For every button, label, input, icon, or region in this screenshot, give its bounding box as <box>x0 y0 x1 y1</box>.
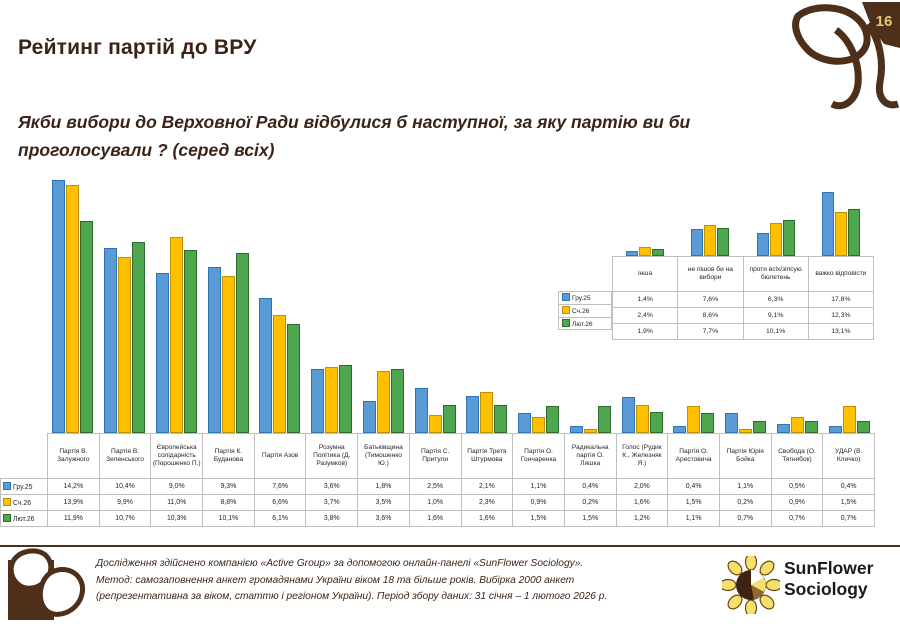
inset-bar-group <box>612 190 678 256</box>
column-header: УДАР (В. Кличко) <box>823 434 875 479</box>
bar-2 <box>546 406 559 433</box>
table-cell-value: 1,0% <box>409 495 461 511</box>
table-cell-value: 3,6% <box>358 511 410 527</box>
column-header: Партія О. Гончаренка <box>513 434 565 479</box>
column-header: Партія О. Арестовича <box>668 434 720 479</box>
inset-table-cell-value: 9,1% <box>743 308 808 324</box>
inset-table-cell-value: 17,8% <box>808 292 873 308</box>
bar-2 <box>701 413 714 433</box>
table-cell-value: 10,7% <box>99 511 151 527</box>
inset-table-cell-value: 2,4% <box>613 308 678 324</box>
inset-bar-2 <box>783 220 795 256</box>
table-cell-value: 1,6% <box>461 511 513 527</box>
bar-2 <box>184 250 197 434</box>
legend-swatch-icon <box>3 482 11 490</box>
inset-table-cell-value: 8,6% <box>678 308 743 324</box>
bar-2 <box>805 421 818 433</box>
bar-1 <box>687 406 700 433</box>
inset-column-header: важко відповісти <box>808 257 873 292</box>
bar-0 <box>725 413 738 433</box>
sunflower-sociology-logo: SunFlower Sociology <box>722 556 892 618</box>
methodology-line-2: Метод: самозаповнення анкет громадянами … <box>96 573 706 590</box>
bar-group <box>306 180 358 433</box>
inset-table-cell-value: 6,3% <box>743 292 808 308</box>
table-cell-value: 3,8% <box>306 511 358 527</box>
inset-bar-0 <box>822 192 834 256</box>
footer-divider <box>0 545 900 547</box>
column-header: Партія Юрія Бойка <box>719 434 771 479</box>
bar-0 <box>52 180 65 433</box>
table-cell-value: 11,0% <box>151 495 203 511</box>
bar-group <box>409 180 461 433</box>
bar-1 <box>636 405 649 434</box>
table-cell-value: 13,9% <box>48 495 100 511</box>
inset-legend-swatch-icon <box>562 319 570 327</box>
table-cell-value: 9,9% <box>99 495 151 511</box>
inset-data-table: іншане пішов би на виборипроти всіх/зіпс… <box>612 256 874 340</box>
table-cell-value: 1,2% <box>616 511 668 527</box>
table-cell-value: 1,5% <box>668 495 720 511</box>
table-cell-value: 9,3% <box>203 479 255 495</box>
table-cell-value: 1,6% <box>616 495 668 511</box>
inset-bar-0 <box>691 229 703 256</box>
table-cell-value: 6,1% <box>254 511 306 527</box>
table-row: Сч.2613,9%9,9%11,0%8,8%6,6%3,7%3,5%1,0%2… <box>1 495 875 511</box>
inset-table-row: 1,9%7,7%10,1%13,1% <box>613 324 874 340</box>
table-cell-value: 0,9% <box>513 495 565 511</box>
inset-bar-group <box>809 190 875 256</box>
table-row: Лют.2611,9%10,7%10,3%10,1%6,1%3,8%3,6%1,… <box>1 511 875 527</box>
bar-0 <box>622 397 635 433</box>
table-cell-value: 1,6% <box>409 511 461 527</box>
main-table-header-row: Партія В. ЗалужногоПартія В. Зеленського… <box>1 434 875 479</box>
inset-table-row: 1,4%7,6%6,3%17,8% <box>613 292 874 308</box>
bar-group <box>47 180 99 433</box>
inset-bar-0 <box>757 233 769 256</box>
inset-bar-chart <box>612 190 874 256</box>
bar-0 <box>466 396 479 433</box>
logo-line-1: SunFlower <box>784 558 873 579</box>
inset-bar-2 <box>652 249 664 256</box>
legend-swatch-icon <box>3 514 11 522</box>
inset-legend-item: Лют.26 <box>558 317 612 330</box>
survey-question: Якби вибори до Верховної Ради відбулися … <box>18 108 818 164</box>
column-header: Партія В. Залужного <box>48 434 100 479</box>
column-header: Європейська солідарність (Порошенко П.) <box>151 434 203 479</box>
table-cell-value: 10,1% <box>203 511 255 527</box>
main-data-table: Партія В. ЗалужногоПартія В. Зеленського… <box>0 433 875 527</box>
column-header: Свобода (О. Тягнибок) <box>771 434 823 479</box>
bar-group <box>461 180 513 433</box>
table-cell-value: 10,3% <box>151 511 203 527</box>
table-cell-value: 9,0% <box>151 479 203 495</box>
bar-2 <box>494 405 507 434</box>
bar-1 <box>532 417 545 433</box>
bar-1 <box>480 392 493 433</box>
inset-table-cell-value: 7,7% <box>678 324 743 340</box>
legend-row-header: Сч.26 <box>1 495 48 511</box>
inset-column-header: не пішов би на вибори <box>678 257 743 292</box>
methodology-line-3: (репрезентативна за віком, статтю і регі… <box>96 589 706 606</box>
inset-bar-1 <box>704 225 716 256</box>
bar-group <box>202 180 254 433</box>
column-header: Батьківщина (Тимошенко Ю.) <box>358 434 410 479</box>
main-table-body: Гру.2514,2%10,4%9,0%9,3%7,6%3,6%1,8%2,5%… <box>1 479 875 527</box>
table-cell-value: 0,4% <box>564 479 616 495</box>
inset-table-cell-value: 1,4% <box>613 292 678 308</box>
column-header: Партія К. Буданова <box>203 434 255 479</box>
bar-0 <box>208 267 221 433</box>
table-cell-value: 1,5% <box>513 511 565 527</box>
methodology-line-1: Дослідження здійснено компанією «Active … <box>96 556 706 573</box>
column-header: Партія Третя Штурмова <box>461 434 513 479</box>
bar-2 <box>339 365 352 433</box>
bar-0 <box>156 273 169 433</box>
column-header: Радикальна партія О. Ляшка <box>564 434 616 479</box>
table-cell-value: 14,2% <box>48 479 100 495</box>
bar-0 <box>363 401 376 433</box>
inset-legend-item: Сч.26 <box>558 304 612 317</box>
bar-2 <box>80 221 93 433</box>
table-cell-value: 3,6% <box>306 479 358 495</box>
bar-2 <box>287 324 300 433</box>
bar-2 <box>132 242 145 433</box>
sunflower-icon <box>722 556 780 614</box>
column-header: Партія Азов <box>254 434 306 479</box>
bar-2 <box>443 405 456 434</box>
inset-table-cell-value: 13,1% <box>808 324 873 340</box>
inset-column-header: проти всіх/зіпсую бюлетень <box>743 257 808 292</box>
inset-bar-1 <box>770 223 782 256</box>
page-title: Рейтинг партій до ВРУ <box>18 36 256 60</box>
inset-bar-2 <box>848 209 860 256</box>
table-cell-value: 10,4% <box>99 479 151 495</box>
inset-bar-2 <box>717 228 729 256</box>
table-cell-value: 0,5% <box>771 479 823 495</box>
inset-table-cell-value: 7,6% <box>678 292 743 308</box>
bar-group <box>99 180 151 433</box>
inset-table-cell-value: 12,3% <box>808 308 873 324</box>
bar-1 <box>66 185 79 433</box>
bar-1 <box>222 276 235 433</box>
logo-line-2: Sociology <box>784 579 873 600</box>
bar-0 <box>518 413 531 433</box>
table-cell-value: 1,1% <box>513 479 565 495</box>
bar-group <box>254 180 306 433</box>
table-cell-value: 8,8% <box>203 495 255 511</box>
bottom-left-flower-decoration <box>2 546 98 626</box>
inset-bar-group <box>743 190 809 256</box>
bar-1 <box>325 367 338 433</box>
bar-1 <box>118 257 131 433</box>
table-cell-value: 0,7% <box>771 511 823 527</box>
table-cell-value: 2,0% <box>616 479 668 495</box>
column-header: Розумна Політика (Д. Разумков) <box>306 434 358 479</box>
inset-table-row: 2,4%8,6%9,1%12,3% <box>613 308 874 324</box>
bar-1 <box>429 415 442 433</box>
inset-table-cell-value: 1,9% <box>613 324 678 340</box>
table-cell-value: 0,9% <box>771 495 823 511</box>
page-badge-decoration: 16 <box>780 0 900 110</box>
bar-2 <box>650 412 663 433</box>
legend-row-header: Гру.25 <box>1 479 48 495</box>
bar-2 <box>598 406 611 433</box>
table-cell-value: 1,5% <box>564 511 616 527</box>
inset-bar-group <box>678 190 744 256</box>
table-cell-value: 1,1% <box>719 479 771 495</box>
table-cell-value: 1,1% <box>668 511 720 527</box>
table-cell-value: 1,8% <box>358 479 410 495</box>
inset-legend-swatch-icon <box>562 293 570 301</box>
legend-row-header: Лют.26 <box>1 511 48 527</box>
table-cell-value: 2,1% <box>461 479 513 495</box>
column-header: Партія В. Зеленського <box>99 434 151 479</box>
table-cell-value: 0,7% <box>823 511 875 527</box>
table-cell-value: 0,7% <box>719 511 771 527</box>
inset-table-body: 1,4%7,6%6,3%17,8%2,4%8,6%9,1%12,3%1,9%7,… <box>613 292 874 340</box>
bar-2 <box>391 369 404 433</box>
inset-table-header-row: іншане пішов би на виборипроти всіх/зіпс… <box>613 257 874 292</box>
column-header: Партія С. Притули <box>409 434 461 479</box>
bar-group <box>151 180 203 433</box>
legend-swatch-icon <box>3 498 11 506</box>
bar-0 <box>415 388 428 433</box>
table-cell-value: 1,5% <box>823 495 875 511</box>
bar-0 <box>673 426 686 433</box>
bar-0 <box>311 369 324 433</box>
table-cell-value: 2,5% <box>409 479 461 495</box>
table-cell-value: 0,4% <box>823 479 875 495</box>
table-cell-value: 0,2% <box>564 495 616 511</box>
inset-legend: Гру.25Сч.26Лют.26 <box>558 291 612 330</box>
column-header: Голос (Рудик К., Железняк Я.) <box>616 434 668 479</box>
bar-1 <box>843 406 856 433</box>
inset-column-header: інша <box>613 257 678 292</box>
bar-0 <box>829 426 842 433</box>
methodology-note: Дослідження здійснено компанією «Active … <box>96 556 706 606</box>
bar-2 <box>753 421 766 433</box>
inset-bar-1 <box>639 247 651 256</box>
bar-2 <box>857 421 870 433</box>
bar-1 <box>273 315 286 433</box>
table-cell-value: 0,2% <box>719 495 771 511</box>
page-number: 16 <box>876 13 893 30</box>
inset-bar-1 <box>835 212 847 256</box>
table-corner-cell <box>1 434 48 479</box>
table-cell-value: 0,4% <box>668 479 720 495</box>
table-cell-value: 2,3% <box>461 495 513 511</box>
bar-0 <box>570 426 583 433</box>
bar-1 <box>377 371 390 433</box>
bar-group <box>358 180 410 433</box>
table-cell-value: 11,9% <box>48 511 100 527</box>
bar-2 <box>236 253 249 433</box>
bar-group <box>513 180 565 433</box>
table-cell-value: 3,5% <box>358 495 410 511</box>
inset-legend-swatch-icon <box>562 306 570 314</box>
bar-1 <box>170 237 183 433</box>
bar-0 <box>104 248 117 433</box>
bar-1 <box>791 417 804 433</box>
table-cell-value: 3,7% <box>306 495 358 511</box>
bar-0 <box>259 298 272 433</box>
inset-legend-item: Гру.25 <box>558 291 612 304</box>
table-cell-value: 6,6% <box>254 495 306 511</box>
bar-0 <box>777 424 790 433</box>
table-row: Гру.2514,2%10,4%9,0%9,3%7,6%3,6%1,8%2,5%… <box>1 479 875 495</box>
table-cell-value: 7,6% <box>254 479 306 495</box>
inset-table-cell-value: 10,1% <box>743 324 808 340</box>
